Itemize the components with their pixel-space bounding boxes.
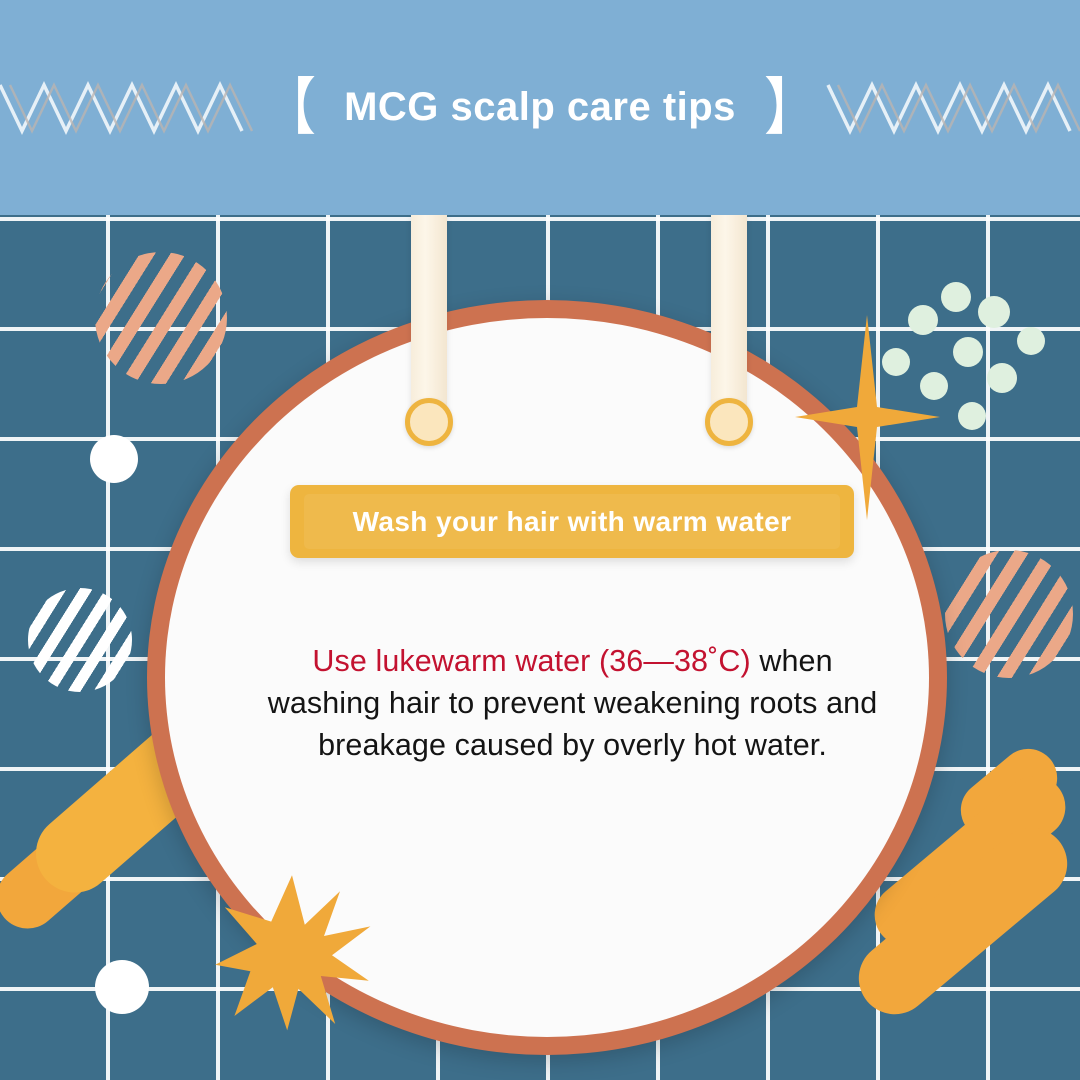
bracket-right-icon: 】 [764,76,818,138]
striped-circle-top-left-icon [95,252,227,384]
tip-banner: Wash your hair with warm water [290,485,854,558]
dot-white-left-icon [90,435,138,483]
tip-banner-label: Wash your hair with warm water [353,506,792,538]
zigzag-left-icon [0,79,256,137]
zigzag-right-icon [824,79,1080,137]
dot-mint-4-icon [1017,327,1045,355]
tip-body-text: Use lukewarm water (36—38˚C) when washin… [255,640,890,766]
header-band: 【 MCG scalp care tips 】 [0,0,1080,215]
tip-body-highlight: Use lukewarm water (36—38˚C) [312,644,750,678]
hanging-strap-left-knob-icon [405,398,453,446]
dot-mint-9-icon [958,402,986,430]
dot-mint-3-icon [978,296,1010,328]
poster-canvas: Wash your hair with warm water Use lukew… [0,0,1080,1080]
burst-star-icon [212,872,372,1032]
dot-white-bottom-left-icon [95,960,149,1014]
bracket-left-icon: 【 [262,76,316,138]
dot-mint-8-icon [987,363,1017,393]
striped-circle-right-icon [945,550,1073,678]
dot-mint-1-icon [941,282,971,312]
striped-circle-left-icon [28,588,132,692]
page-title: MCG scalp care tips [322,85,758,130]
dot-mint-5-icon [953,337,983,367]
hanging-strap-right-knob-icon [705,398,753,446]
